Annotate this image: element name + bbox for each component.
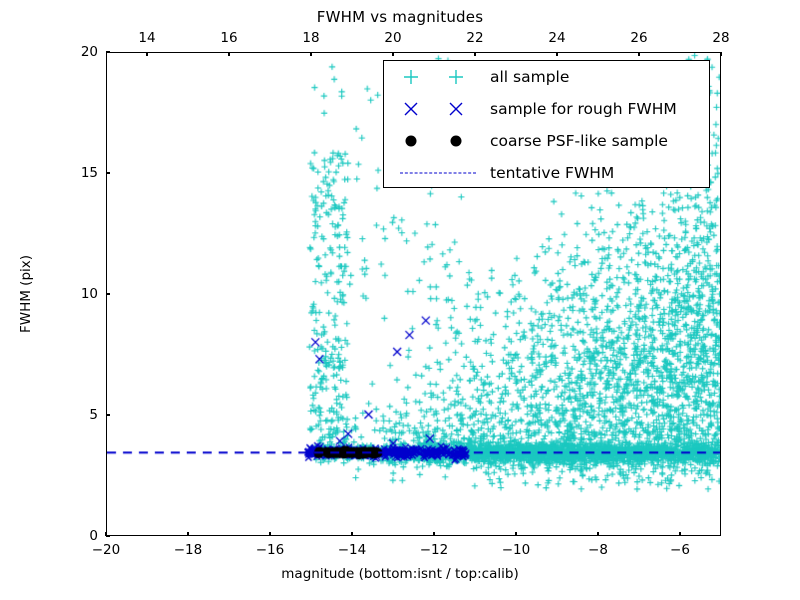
legend-item[interactable]: sample for rough FWHM: [384, 93, 709, 125]
y-tick: [106, 51, 110, 52]
x-tick-bottom: [351, 532, 352, 536]
y-tick: [106, 293, 110, 294]
x-tick-bottom: [433, 532, 434, 536]
x-tick-label-top: 16: [220, 30, 237, 46]
legend-label: coarse PSF-like sample: [490, 132, 668, 150]
legend-box: all samplesample for rough FWHMcoarse PS…: [383, 60, 710, 188]
x-tick-top: [638, 52, 639, 56]
x-tick-label-bottom: −8: [588, 542, 608, 558]
x-tick-bottom: [187, 532, 188, 536]
x-tick-label-bottom: −18: [174, 542, 203, 558]
cross-marker: [449, 102, 464, 117]
y-tick-label: 5: [60, 407, 98, 423]
x-tick-bottom: [679, 532, 680, 536]
page-title: FWHM vs magnitudes: [0, 8, 800, 26]
legend-item[interactable]: all sample: [384, 61, 709, 93]
x-tick-bottom: [269, 532, 270, 536]
x-tick-label-bottom: −12: [420, 542, 449, 558]
y-tick-label: 10: [60, 286, 98, 302]
y-tick: [106, 172, 110, 173]
legend-item[interactable]: tentative FWHM: [384, 157, 709, 189]
x-tick-label-top: 20: [384, 30, 401, 46]
x-tick-label-top: 22: [466, 30, 483, 46]
y-tick-label: 0: [60, 528, 98, 544]
y-tick-label: 15: [60, 165, 98, 181]
x-tick-label-bottom: −6: [670, 542, 690, 558]
x-tick-label-top: 24: [548, 30, 565, 46]
cross-marker: [404, 102, 419, 117]
x-tick-label-top: 28: [712, 30, 729, 46]
x-tick-label-bottom: −10: [502, 542, 531, 558]
x-tick-top: [228, 52, 229, 56]
dot-marker: [451, 136, 462, 147]
legend-label: all sample: [490, 68, 569, 86]
figure-root: FWHM vs magnitudes −20−18−16−14−12−10−8−…: [0, 0, 800, 600]
legend-label: sample for rough FWHM: [490, 100, 677, 118]
x-tick-top: [720, 52, 721, 56]
x-tick-bottom: [515, 532, 516, 536]
x-tick-top: [392, 52, 393, 56]
x-tick-label-top: 26: [630, 30, 647, 46]
plus-marker: [449, 70, 464, 85]
legend-label: tentative FWHM: [490, 164, 614, 182]
x-axis-title: magnitude (bottom:isnt / top:calib): [0, 566, 800, 582]
plus-marker: [404, 70, 419, 85]
x-tick-top: [474, 52, 475, 56]
x-tick-bottom: [597, 532, 598, 536]
legend-item[interactable]: coarse PSF-like sample: [384, 125, 709, 157]
x-tick-top: [310, 52, 311, 56]
x-tick-label-top: 18: [302, 30, 319, 46]
x-tick-label-top: 14: [138, 30, 155, 46]
x-tick-label-bottom: −14: [338, 542, 367, 558]
x-tick-label-bottom: −16: [256, 542, 285, 558]
x-tick-top: [146, 52, 147, 56]
dot-marker: [406, 136, 417, 147]
x-tick-top: [556, 52, 557, 56]
y-tick: [106, 414, 110, 415]
x-tick-label-bottom: −20: [92, 542, 121, 558]
y-tick: [106, 535, 110, 536]
y-tick-label: 20: [60, 44, 98, 60]
dashed-line-marker: [400, 173, 476, 174]
y-axis-title: FWHM (pix): [18, 194, 34, 394]
